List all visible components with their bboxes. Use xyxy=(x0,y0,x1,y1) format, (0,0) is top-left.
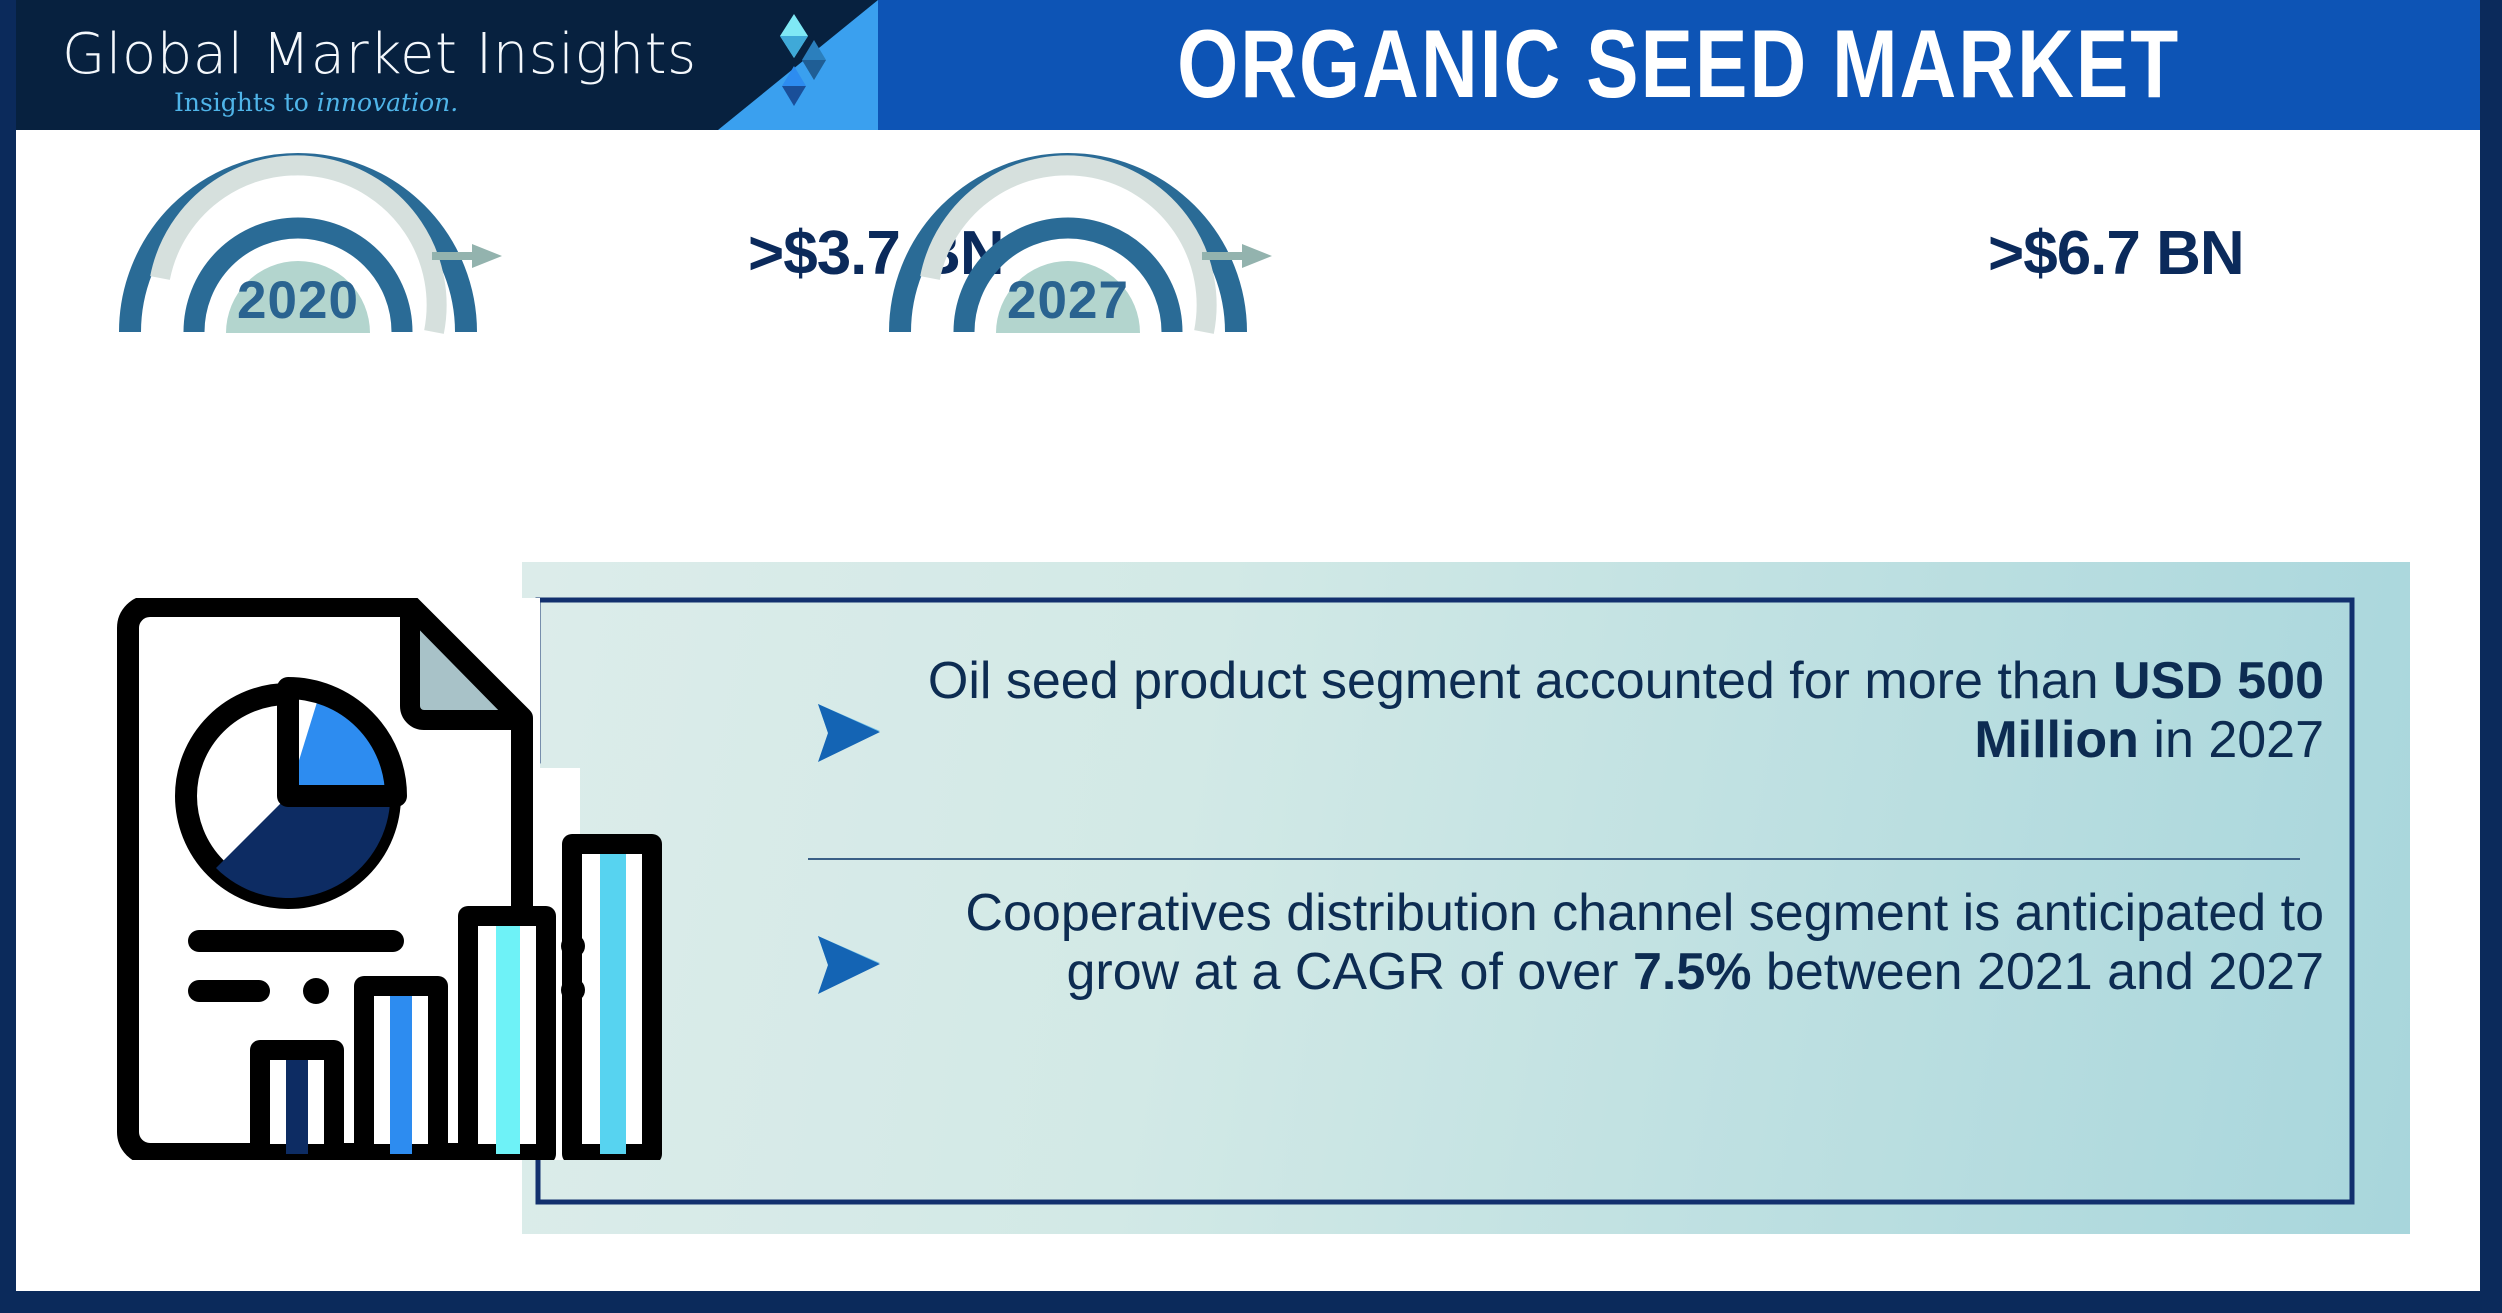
arrow-bullet-icon xyxy=(816,934,882,1001)
metric-gauge-2027: 2027 xyxy=(888,152,1248,338)
brand-tagline-italic: innovation. xyxy=(317,88,458,117)
insight-2-after: between 2021 and 2027 xyxy=(1751,943,2324,1001)
infographic-root: Global Market Insights Insights to innov… xyxy=(0,0,2502,1313)
report-document-chart-icon xyxy=(110,598,680,1160)
frame-border-right xyxy=(2480,0,2502,1313)
frame-border-bottom xyxy=(0,1291,2502,1313)
brand-panel: Global Market Insights Insights to innov… xyxy=(16,0,878,130)
title-panel: ORGANIC SEED MARKET xyxy=(878,0,2480,130)
gauge-year-label-2020: 2020 xyxy=(118,270,478,331)
insight-2-highlight: 7.5% xyxy=(1633,943,1752,1001)
insights-bullet-list: Oil seed product segment accounted for m… xyxy=(790,622,2342,1182)
insight-bullet-1-text: Oil seed product segment accounted for m… xyxy=(882,652,2342,770)
page-title: ORGANIC SEED MARKET xyxy=(878,21,2480,110)
page-title-text: ORGANIC SEED MARKET xyxy=(1177,9,2180,120)
gauge-year-label-2027: 2027 xyxy=(888,270,1248,331)
gauge-connector-2020 xyxy=(432,243,502,269)
metric-gauge-2020: 2020 xyxy=(118,152,478,338)
gmi-diamond-logo-icon xyxy=(776,14,828,122)
brand-wordmark: Global Market Insights xyxy=(62,22,697,87)
arrow-bullet-icon xyxy=(816,702,882,769)
insight-bullet-2-text: Cooperatives distribution channel segmen… xyxy=(882,884,2342,1002)
frame-border-left xyxy=(0,0,16,1313)
insight-bullet-1: Oil seed product segment accounted for m… xyxy=(790,622,2342,860)
brand-tagline-plain: Insights to xyxy=(174,88,317,117)
insight-1-before: Oil seed product segment accounted for m… xyxy=(928,652,2113,710)
metric-value-2027: >$6.7 BN xyxy=(1988,218,2244,289)
brand-tagline: Insights to innovation. xyxy=(174,88,458,117)
insight-1-after: in 2027 xyxy=(2139,711,2324,769)
insight-bullet-2: Cooperatives distribution channel segmen… xyxy=(790,860,2342,1184)
header: Global Market Insights Insights to innov… xyxy=(16,0,2480,130)
gauge-connector-2027 xyxy=(1202,243,1272,269)
